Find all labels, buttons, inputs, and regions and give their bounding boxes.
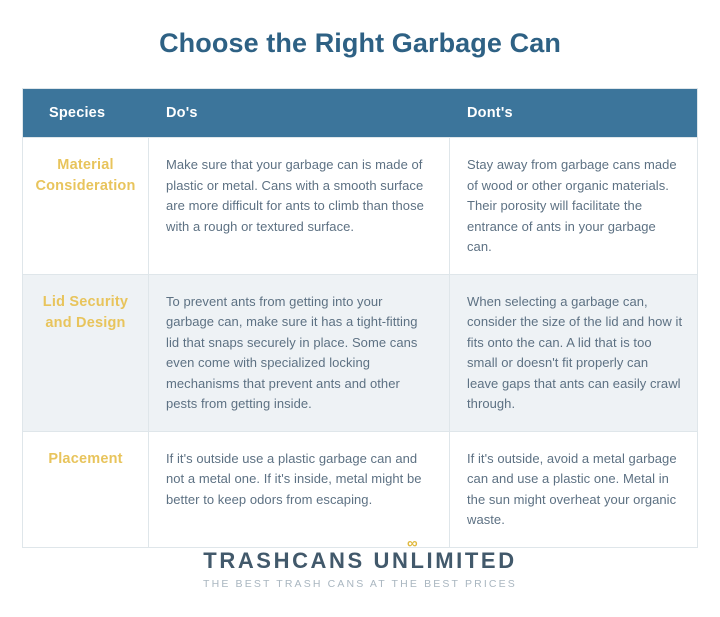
page-title: Choose the Right Garbage Can: [0, 26, 720, 60]
brand-tagline: THE BEST TRASH CANS AT THE BEST PRICES: [203, 577, 517, 591]
column-header-species: Species: [23, 105, 149, 121]
column-header-dos: Do's: [149, 105, 450, 121]
table-row: Material Consideration Make sure that yo…: [23, 137, 697, 274]
infinity-icon: ∞: [407, 536, 418, 551]
row-donts-placement: If it's outside, avoid a metal garbage c…: [450, 432, 697, 547]
row-dos-lid-security-and-design: To prevent ants from getting into your g…: [149, 275, 450, 431]
footer: ∞ TRASHCANS UNLIMITED THE BEST TRASH CAN…: [0, 548, 720, 592]
brand-logo: ∞ TRASHCANS UNLIMITED THE BEST TRASH CAN…: [203, 548, 517, 591]
brand-name: TRASHCANS UNLIMITED: [203, 548, 517, 574]
table-header-row: Species Do's Dont's: [23, 89, 697, 137]
row-label-placement: Placement: [23, 432, 149, 547]
row-donts-material-consideration: Stay away from garbage cans made of wood…: [450, 138, 697, 274]
table-row: Placement If it's outside use a plastic …: [23, 431, 697, 547]
table-row: Lid Security and Design To prevent ants …: [23, 274, 697, 431]
row-label-lid-security-and-design: Lid Security and Design: [23, 275, 149, 431]
row-label-material-consideration: Material Consideration: [23, 138, 149, 274]
row-donts-lid-security-and-design: When selecting a garbage can, consider t…: [450, 275, 697, 431]
row-dos-placement: If it's outside use a plastic garbage ca…: [149, 432, 450, 547]
row-dos-material-consideration: Make sure that your garbage can is made …: [149, 138, 450, 274]
comparison-table: Species Do's Dont's Material Considerati…: [22, 88, 698, 548]
infographic-page: Choose the Right Garbage Can Species Do'…: [0, 0, 720, 617]
column-header-donts: Dont's: [450, 105, 697, 121]
